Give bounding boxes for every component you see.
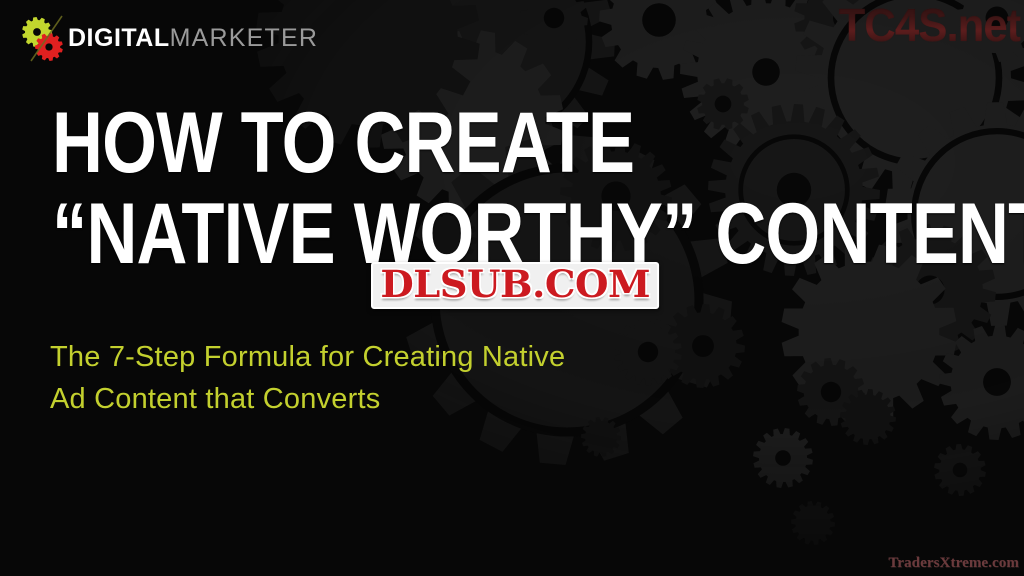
gear-logo-icon [18, 14, 70, 62]
watermark-tradersxtreme: TradersXtreme.com [888, 556, 1019, 571]
subtitle: The 7-Step Formula for Creating Native A… [50, 336, 565, 420]
brand-wordmark-bold: DIGITAL [68, 24, 170, 52]
watermark-tc4s: TC4S.net [838, 2, 1020, 48]
subtitle-line-1: The 7-Step Formula for Creating Native [50, 336, 565, 378]
watermark-dlsub: DLSUB.COM [371, 262, 659, 309]
subtitle-line-2: Ad Content that Converts [50, 378, 565, 420]
brand-logo: DIGITALMARKETER [18, 14, 318, 62]
brand-wordmark: DIGITALMARKETER [68, 26, 318, 51]
presentation-slide: DIGITALMARKETER HOW TO CREATE “NATIVE WO… [0, 0, 1024, 576]
page-title: HOW TO CREATE “NATIVE WORTHY” CONTENT [52, 104, 1024, 274]
title-line-1: HOW TO CREATE [52, 104, 1024, 183]
brand-wordmark-light: MARKETER [170, 24, 319, 52]
